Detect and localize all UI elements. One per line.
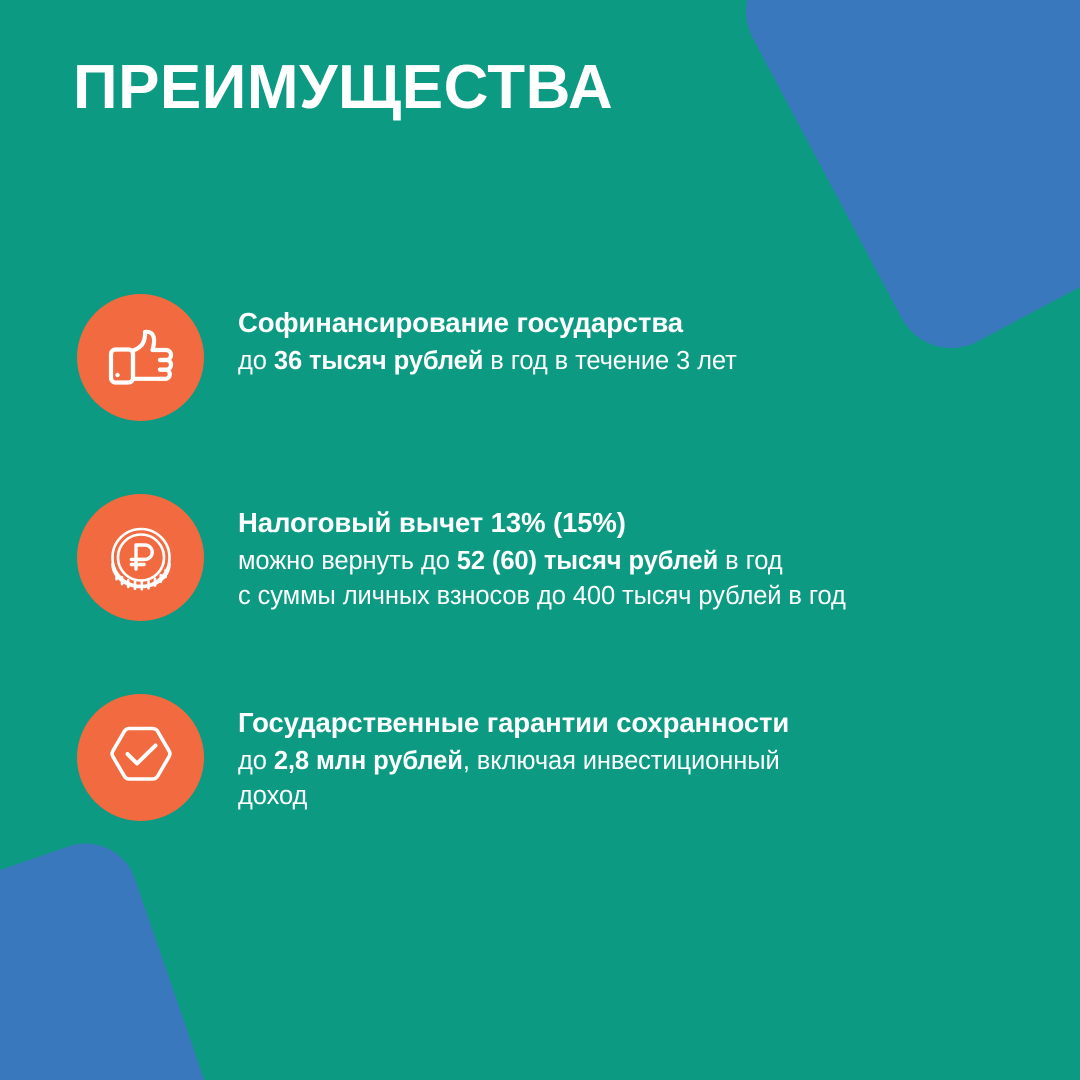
benefit-body-1: до 36 тысяч рублей в год в течение 3 лет (238, 344, 737, 379)
emphasis-text: 2,8 млн рублей (274, 747, 463, 775)
benefit-body-line: с суммы личных взносов до 400 тысяч рубл… (238, 579, 846, 614)
emphasis-text: 52 (60) тысяч рублей (457, 547, 718, 575)
benefit-heading-3: Государственные гарантии сохранности (238, 705, 789, 741)
benefit-body-line: доход (238, 779, 789, 814)
hexagon-check-icon (77, 694, 204, 821)
plain-text: в год (718, 547, 782, 575)
benefit-body-3: до 2,8 млн рублей, включая инвестиционны… (238, 744, 789, 814)
thumbs-up-icon (77, 294, 204, 421)
plain-text: до (238, 747, 274, 775)
plain-text: до (238, 347, 274, 375)
page-title: ПРЕИМУЩЕСТВА (73, 57, 613, 119)
slide-root: ПРЕИМУЩЕСТВА Софинансирование государств… (0, 0, 1080, 1080)
decorative-shape-bottom-left (0, 829, 235, 1080)
benefit-body-line: до 2,8 млн рублей, включая инвестиционны… (238, 744, 789, 779)
benefit-body-2: можно вернуть до 52 (60) тысяч рублей в … (238, 544, 846, 614)
benefit-body-line: до 36 тысяч рублей в год в течение 3 лет (238, 344, 737, 379)
benefit-item-2: Налоговый вычет 13% (15%) можно вернуть … (77, 494, 1037, 621)
benefit-text-3: Государственные гарантии сохранности до … (238, 694, 789, 814)
benefit-heading-1: Софинансирование государства (238, 305, 737, 341)
benefit-text-2: Налоговый вычет 13% (15%) можно вернуть … (238, 494, 846, 614)
benefit-heading-2: Налоговый вычет 13% (15%) (238, 505, 846, 541)
emphasis-text: 36 тысяч рублей (274, 347, 483, 375)
benefit-body-line: можно вернуть до 52 (60) тысяч рублей в … (238, 544, 846, 579)
benefit-item-3: Государственные гарантии сохранности до … (77, 694, 1037, 821)
plain-text: доход (238, 782, 307, 810)
benefit-item-1: Софинансирование государства до 36 тысяч… (77, 294, 1037, 421)
plain-text: можно вернуть до (238, 547, 457, 575)
plain-text: , включая инвестиционный (463, 747, 780, 775)
plain-text: с суммы личных взносов до 400 тысяч рубл… (238, 582, 846, 610)
plain-text: в год в течение 3 лет (483, 347, 736, 375)
ruble-coin-icon (77, 494, 204, 621)
benefit-text-1: Софинансирование государства до 36 тысяч… (238, 294, 737, 379)
